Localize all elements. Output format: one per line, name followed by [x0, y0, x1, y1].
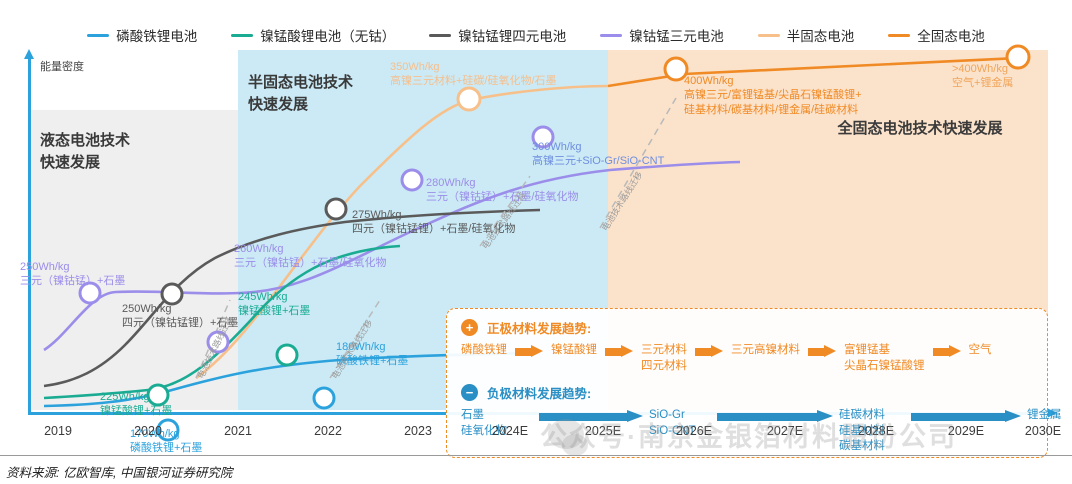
legend-label-lfp: 磷酸铁锂电池 [116, 25, 197, 45]
point-material: 镍锰酸锂+石墨 [100, 404, 172, 418]
point-value: 275Wh/kg [352, 208, 515, 222]
cathode-chain: 磷酸铁锂 镍锰酸锂 三元材料 四元材料 三元高镍材料 [461, 343, 992, 374]
point-value: 225Wh/kg [100, 390, 172, 404]
footer-divider [0, 455, 1072, 456]
point-label-300-ternary: 300Wh/kg 高镍三元+SiO-Gr/SiO-CNT [532, 140, 664, 169]
cathode-node-4: 三元高镍材料 [731, 343, 800, 359]
point-label-350-semisolid: 350Wh/kg 高镍三元材料+硅碳/硅氧化物/石墨 [390, 60, 557, 89]
point-value: 250Wh/kg [20, 260, 125, 274]
point-label-260-ternary: 260Wh/kg 三元（镍钴锰）+石墨/硅氧化物 [234, 242, 386, 271]
marker-180-lfp [314, 388, 334, 408]
legend-item-lnmo: 镍锰酸锂电池（无钴） [231, 25, 395, 45]
arrow-icon [808, 345, 836, 358]
cathode-header: + 正极材料发展趋势: [461, 318, 992, 337]
x-tick-2023: 2023 [404, 424, 432, 438]
point-material: 高镍三元材料+硅碳/硅氧化物/石墨 [390, 74, 557, 88]
legend-label-ternary: 镍钴锰三元电池 [629, 25, 724, 45]
legend-swatch-quaternary [429, 34, 451, 37]
legend-item-semisolid: 半固态电池 [758, 25, 855, 45]
point-material: 镍锰酸锂+石墨 [238, 304, 310, 318]
point-value: 350Wh/kg [390, 60, 557, 74]
cathode-title: 正极材料发展趋势: [487, 318, 591, 337]
plus-icon: + [461, 319, 478, 336]
anode-header: − 负极材料发展趋势: [461, 383, 1062, 402]
point-material: 高镍三元/富锂锰基/尖晶石镍锰酸锂+ [684, 88, 862, 102]
legend-label-semisolid: 半固态电池 [787, 25, 855, 45]
legend-swatch-lfp [87, 34, 109, 37]
marker-350-semisolid [458, 88, 480, 110]
arrow-icon [933, 345, 961, 358]
point-value: 280Wh/kg [426, 176, 578, 190]
legend-swatch-ternary [600, 34, 622, 37]
x-tick-2021: 2021 [224, 424, 252, 438]
plot-area: 液态电池技术 快速发展 半固态电池技术 快速发展 全固态电池技术快速发展 能量密… [0, 50, 1072, 422]
point-material: 空气+锂金属 [952, 76, 1013, 90]
point-material-2: 硅基材料/碳基材料/锂金属/硅碳材料 [684, 103, 862, 117]
point-label-245-lnmo: 245Wh/kg 镍锰酸锂+石墨 [238, 290, 310, 319]
watermark-text: 公众号·南京金银箔材料股份公司 [540, 415, 957, 454]
cathode-node-6: 空气 [969, 343, 992, 359]
point-value: 260Wh/kg [234, 242, 386, 256]
cathode-node-1: 磷酸铁锂 [461, 343, 507, 359]
marker-250-quaternary [162, 284, 182, 304]
legend-swatch-semisolid [758, 34, 780, 37]
point-material: 高镍三元+SiO-Gr/SiO-CNT [532, 154, 664, 168]
chart-root: 磷酸铁锂电池 镍锰酸锂电池（无钴） 镍钴锰锂四元电池 镍钴锰三元电池 半固态电池… [0, 0, 1072, 484]
point-label-250-ternary: 250Wh/kg 三元（镍钴锰）+石墨 [20, 260, 125, 289]
point-value: 400Wh/kg [684, 74, 862, 88]
legend-label-allsolid: 全固态电池 [917, 25, 985, 45]
point-material: 三元（镍钴锰）+石墨/硅氧化物 [234, 256, 386, 270]
point-label-225-lnmo: 225Wh/kg 镍锰酸锂+石墨 [100, 390, 172, 419]
arrow-icon [695, 345, 723, 358]
point-material: 三元（镍钴锰）+石墨/硅氧化物 [426, 190, 578, 204]
chart-legend: 磷酸铁锂电池 镍锰酸锂电池（无钴） 镍钴锰锂四元电池 镍钴锰三元电池 半固态电池… [0, 22, 1072, 48]
legend-swatch-allsolid [888, 34, 910, 37]
legend-label-lnmo: 镍锰酸锂电池（无钴） [260, 25, 395, 45]
anode-node-4: 锂金属 [1027, 408, 1062, 424]
point-label-400plus-allsolid: >400Wh/kg 空气+锂金属 [952, 62, 1013, 91]
arrow-icon [515, 345, 543, 358]
x-tick-2022: 2022 [314, 424, 342, 438]
legend-item-quaternary: 镍钴锰锂四元电池 [429, 25, 566, 45]
x-tick-2020: 2020 [134, 424, 162, 438]
point-material: 三元（镍钴锰）+石墨 [20, 274, 125, 288]
arrow-icon [605, 345, 633, 358]
source-note: 资料来源: 亿欧智库, 中国银河证券研究院 [6, 462, 232, 481]
point-value: 300Wh/kg [532, 140, 664, 154]
point-label-400-allsolid: 400Wh/kg 高镍三元/富锂锰基/尖晶石镍锰酸锂+ 硅基材料/碳基材料/锂金… [684, 74, 862, 117]
x-tick-2030E: 2030E [1025, 424, 1061, 438]
cathode-node-5: 富锂锰基 尖晶石镍锰酸锂 [844, 343, 925, 374]
x-tick-2024E: 2024E [492, 424, 528, 438]
legend-item-allsolid: 全固态电池 [888, 25, 985, 45]
marker-280-ternary [402, 170, 422, 190]
anode-title: 负极材料发展趋势: [487, 383, 591, 402]
legend-swatch-lnmo [231, 34, 253, 37]
legend-item-ternary: 镍钴锰三元电池 [600, 25, 724, 45]
cathode-trend-group: + 正极材料发展趋势: 磷酸铁锂 镍锰酸锂 三元材料 四元材料 [461, 318, 992, 374]
point-value: >400Wh/kg [952, 62, 1013, 76]
legend-item-lfp: 磷酸铁锂电池 [87, 25, 197, 45]
point-value: 250Wh/kg [122, 302, 238, 316]
cathode-node-2: 镍锰酸锂 [551, 343, 597, 359]
minus-icon: − [461, 384, 478, 401]
point-value: 245Wh/kg [238, 290, 310, 304]
x-tick-2019: 2019 [44, 424, 72, 438]
marker-275-quaternary [326, 199, 346, 219]
marker-245-lnmo [277, 345, 297, 365]
legend-label-quaternary: 镍钴锰锂四元电池 [458, 25, 566, 45]
cathode-node-3: 三元材料 四元材料 [641, 343, 687, 374]
point-label-280-ternary: 280Wh/kg 三元（镍钴锰）+石墨/硅氧化物 [426, 176, 578, 205]
